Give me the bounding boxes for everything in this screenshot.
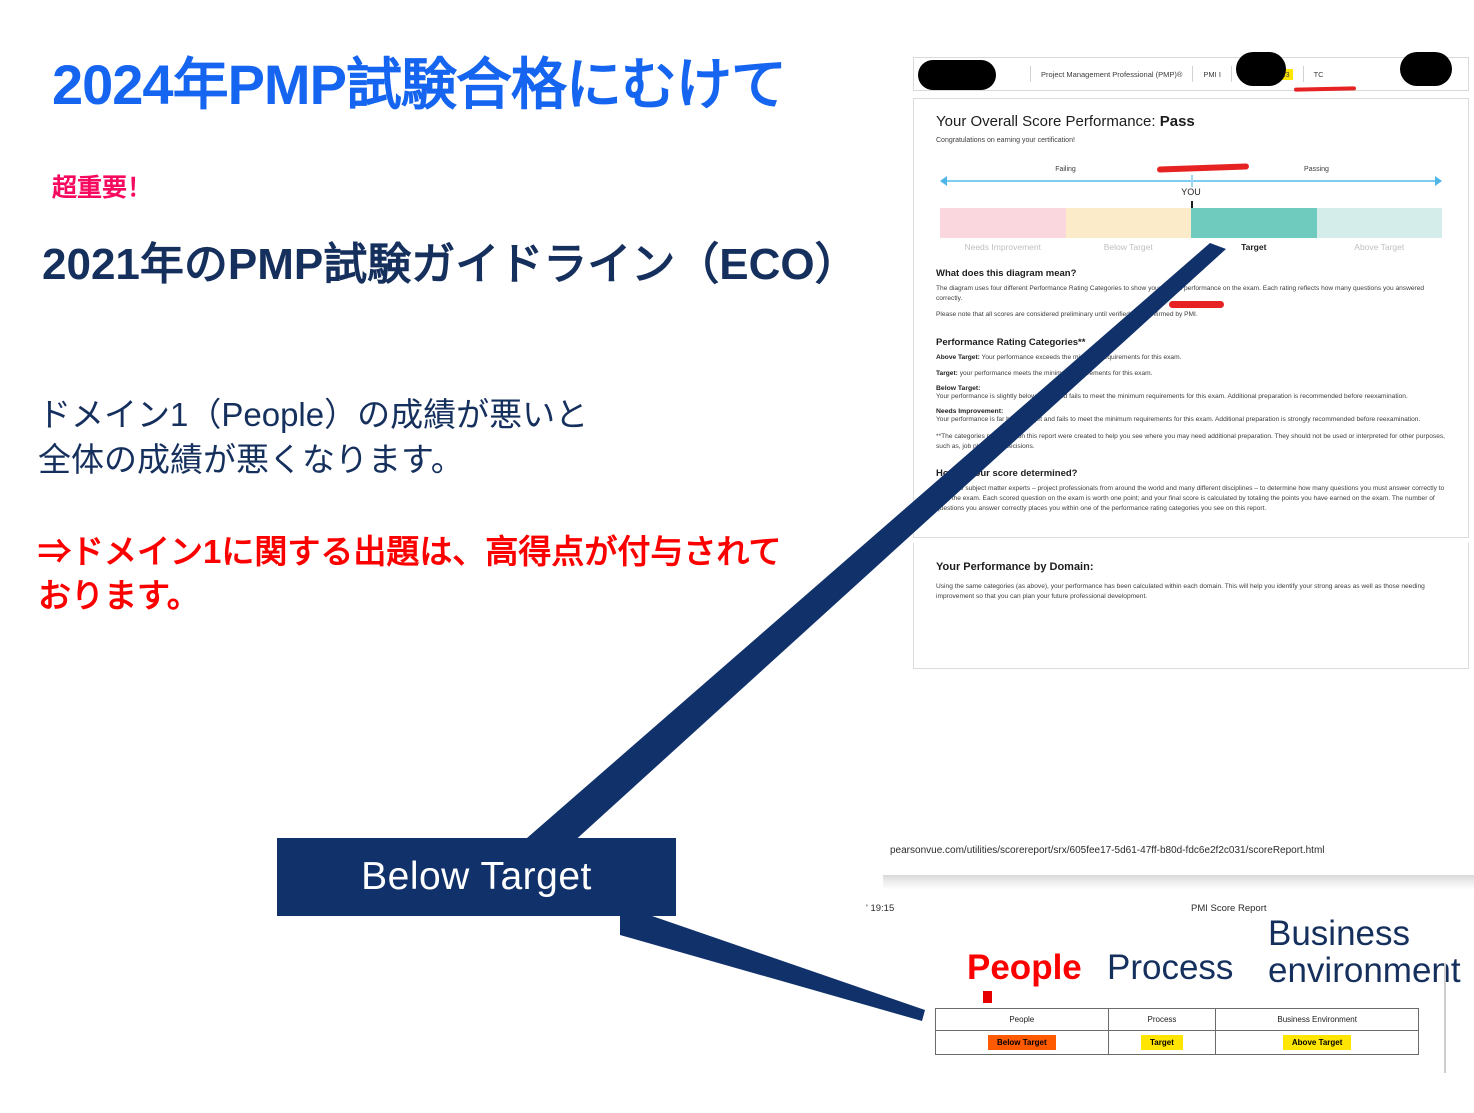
table-header-people: People <box>936 1009 1109 1031</box>
rating-chip-below-target: Below Target <box>988 1035 1056 1050</box>
category-label-above-target: Above Target <box>1317 242 1443 252</box>
score-report-page-top: Project Management Professional (PMP)® P… <box>913 57 1469 767</box>
rating-below-target-label: Below Target: <box>936 385 1446 392</box>
page-scroll-strip <box>883 875 1474 889</box>
table-header-process: Process <box>1108 1009 1216 1031</box>
table-cell-process-rating: Target <box>1108 1031 1216 1055</box>
print-timestamp: ' 19:15 <box>866 903 894 914</box>
overall-score-card: Your Overall Score Performance: Pass Con… <box>913 98 1469 538</box>
red-marker-people <box>983 991 992 1003</box>
you-marker-group: YOU <box>940 186 1442 208</box>
page-title: 2024年PMP試験合格にむけて <box>52 40 786 121</box>
rating-category-labels: Needs Improvement Below Target Target Ab… <box>940 242 1442 252</box>
browser-url-text: pearsonvue.com/utilities/scorereport/srx… <box>866 845 1474 856</box>
conclusion-paragraph: ⇒ドメイン1に関する出題は、高得点が付与されております。 <box>38 530 798 617</box>
slide-canvas: 2024年PMP試験合格にむけて 超重要！ 2021年のPMP試験ガイドライン（… <box>0 0 1474 1113</box>
scale-axis <box>940 176 1442 186</box>
rating-section-heading: Performance Rating Categories** <box>936 337 1446 348</box>
scale-label-failing: Failing <box>940 166 1191 173</box>
table-cell-business-rating: Above Target <box>1216 1031 1419 1055</box>
callout-below-target[interactable]: Below Target <box>277 838 676 916</box>
rating-target: Target: your performance meets the minim… <box>936 369 1446 379</box>
rating-above-target: Above Target: Your performance exceeds t… <box>936 353 1446 363</box>
rating-needs-improvement-text: Your performance is far below target and… <box>936 415 1446 425</box>
table-row-values: Below Target Target Above Target <box>936 1031 1419 1055</box>
body-paragraph: ドメイン1（People）の成績が悪いと 全体の成績が悪くなります。 <box>38 393 588 483</box>
print-document-title: PMI Score Report <box>1191 903 1267 914</box>
rating-needs-improvement-label: Needs Improvement: <box>936 408 1446 415</box>
axis-arrow-right-icon <box>1435 176 1442 186</box>
domain-performance-card: Your Performance by Domain: Using the sa… <box>913 543 1469 669</box>
rating-chip-target: Target <box>1141 1035 1183 1050</box>
rating-footnote: **The categories presented on this repor… <box>936 432 1446 452</box>
category-label-below-target: Below Target <box>1066 242 1192 252</box>
redaction-block-tc <box>1400 52 1452 86</box>
axis-arrow-left-icon <box>940 176 947 186</box>
overlay-label-process: Process <box>1107 949 1233 986</box>
pmi-id-label: PMI I <box>1193 70 1231 79</box>
redaction-block-name <box>918 60 996 90</box>
scale-label-passing: Passing <box>1191 166 1442 173</box>
score-report-page-bottom: pearsonvue.com/utilities/scorereport/srx… <box>866 845 1474 1085</box>
rating-below-target-text: Your performance is slightly below targe… <box>936 392 1446 402</box>
print-header-row: ' 19:15 PMI Score Report <box>866 903 1474 914</box>
page-subtitle: 2021年のPMP試験ガイドライン（ECO） <box>42 228 859 292</box>
score-section-heading: How is your score determined? <box>936 468 1446 479</box>
you-marker-stem-icon <box>1191 201 1193 208</box>
callout-below-target-label: Below Target <box>361 855 592 899</box>
domain-section-heading: Your Performance by Domain: <box>936 561 1446 573</box>
table-header-business-environment: Business Environment <box>1216 1009 1419 1031</box>
you-marker-label: YOU <box>1181 187 1201 197</box>
rating-target-text: your performance meets the minimum requi… <box>958 370 1153 377</box>
red-underline-date <box>1294 86 1356 91</box>
congratulations-text: Congratulations on earning your certific… <box>936 137 1446 144</box>
bar-above-target <box>1317 208 1443 238</box>
category-label-target: Target <box>1191 242 1317 252</box>
rating-above-target-text: Your performance exceeds the minimum req… <box>980 354 1182 361</box>
bar-target <box>1191 208 1317 238</box>
rating-above-target-label: Above Target: <box>936 354 980 361</box>
bar-below-target <box>1066 208 1192 238</box>
performance-scale: Failing Passing YOU <box>936 166 1446 252</box>
rating-chip-above-target: Above Target <box>1283 1035 1352 1050</box>
overlay-label-business-line2: environment <box>1268 951 1461 990</box>
rating-target-label: Target: <box>936 370 958 377</box>
important-badge: 超重要！ <box>52 168 152 204</box>
bar-needs-improvement <box>940 208 1066 238</box>
domain-results-table: People Process Business Environment Belo… <box>935 1008 1419 1055</box>
page-side-rule <box>1444 963 1446 1073</box>
diagram-section-heading: What does this diagram mean? <box>936 268 1446 279</box>
redaction-block-pmi-id <box>1236 52 1286 86</box>
domain-section-text: Using the same categories (as above), yo… <box>936 582 1446 602</box>
tc-label: TC <box>1304 70 1334 79</box>
red-underline-target <box>1169 301 1224 308</box>
rating-bars <box>940 208 1442 238</box>
overall-score-heading-prefix: Your Overall Score Performance: <box>936 113 1160 130</box>
overlay-label-business-environment: Businessenvironment <box>1268 915 1461 989</box>
certification-name: Project Management Professional (PMP)® <box>1031 70 1192 79</box>
report-header-bar: Project Management Professional (PMP)® P… <box>913 57 1469 91</box>
overall-score-result: Pass <box>1160 113 1195 130</box>
overlay-label-people: People <box>967 949 1082 986</box>
category-label-needs-improvement: Needs Improvement <box>940 242 1066 252</box>
score-section-text: PMI uses subject matter experts – projec… <box>936 484 1446 515</box>
overall-score-heading: Your Overall Score Performance: Pass <box>936 113 1446 130</box>
diagram-section-paragraph-2: Please note that all scores are consider… <box>936 310 1446 320</box>
overlay-label-business-line1: Business <box>1268 914 1410 953</box>
table-cell-people-rating: Below Target <box>936 1031 1109 1055</box>
table-row-headers: People Process Business Environment <box>936 1009 1419 1031</box>
